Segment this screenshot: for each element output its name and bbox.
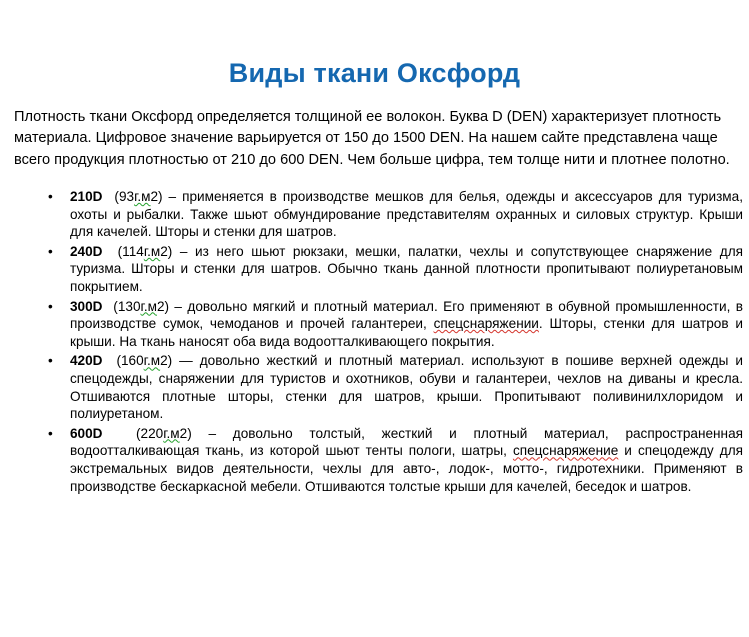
density-spec: (93г.м2) xyxy=(114,189,162,204)
spec-close: 2) xyxy=(160,244,172,259)
spec-open: (130 xyxy=(113,299,140,314)
spellcheck-green: г.м xyxy=(163,426,179,441)
density-code: 240D xyxy=(70,244,103,259)
document-page: Виды ткани Оксфорд Плотность ткани Оксфо… xyxy=(0,0,749,637)
dash: – xyxy=(192,426,233,441)
bullet-marker: • xyxy=(48,298,58,316)
spec-open: (160 xyxy=(116,353,143,368)
list-item: • 420D (160г.м2) — довольно жесткий и пл… xyxy=(0,352,749,422)
density-code: 300D xyxy=(70,299,103,314)
intro-paragraph: Плотность ткани Оксфорд определяется тол… xyxy=(14,107,736,172)
dash: – xyxy=(172,244,195,259)
dash: – xyxy=(163,189,182,204)
density-spec: (160г.м2) xyxy=(116,353,172,368)
spec-open: (114 xyxy=(118,244,144,259)
dash: – xyxy=(169,299,187,314)
spec-close: 2) xyxy=(151,189,163,204)
spellcheck-green: г.м xyxy=(144,244,160,259)
spec-close: 2) xyxy=(157,299,169,314)
bullet-marker: • xyxy=(48,425,58,443)
spellcheck-red: спецснаряжении xyxy=(434,316,539,331)
spellcheck-green: г.м xyxy=(134,189,150,204)
density-spec: (130г.м2) xyxy=(113,299,169,314)
dash: — xyxy=(172,353,200,368)
spec-close: 2) xyxy=(160,353,172,368)
page-title: Виды ткани Оксфорд xyxy=(0,56,749,90)
list-item: • 210D (93г.м2) – применяется в производ… xyxy=(0,188,749,241)
density-spec: (220г.м2) xyxy=(136,426,192,441)
list-item: • 600D (220г.м2) – довольно толстый, жес… xyxy=(0,425,749,495)
density-code: 420D xyxy=(70,353,103,368)
density-list: • 210D (93г.м2) – применяется в производ… xyxy=(0,188,749,497)
spellcheck-green: г.м xyxy=(141,299,157,314)
bullet-marker: • xyxy=(48,352,58,370)
list-item: • 240D (114г.м2) – из него шьют рюкзаки,… xyxy=(0,243,749,296)
spec-open: (220 xyxy=(136,426,163,441)
spec-open: (93 xyxy=(114,189,134,204)
spellcheck-red: спецснаряжение xyxy=(513,443,618,458)
spec-close: 2) xyxy=(180,426,192,441)
spellcheck-green: г.м xyxy=(144,353,160,368)
density-spec: (114г.м2) xyxy=(118,244,173,259)
bullet-marker: • xyxy=(48,188,58,206)
list-item: • 300D (130г.м2) – довольно мягкий и пло… xyxy=(0,298,749,351)
density-code: 210D xyxy=(70,189,103,204)
bullet-marker: • xyxy=(48,243,58,261)
density-code: 600D xyxy=(70,426,103,441)
